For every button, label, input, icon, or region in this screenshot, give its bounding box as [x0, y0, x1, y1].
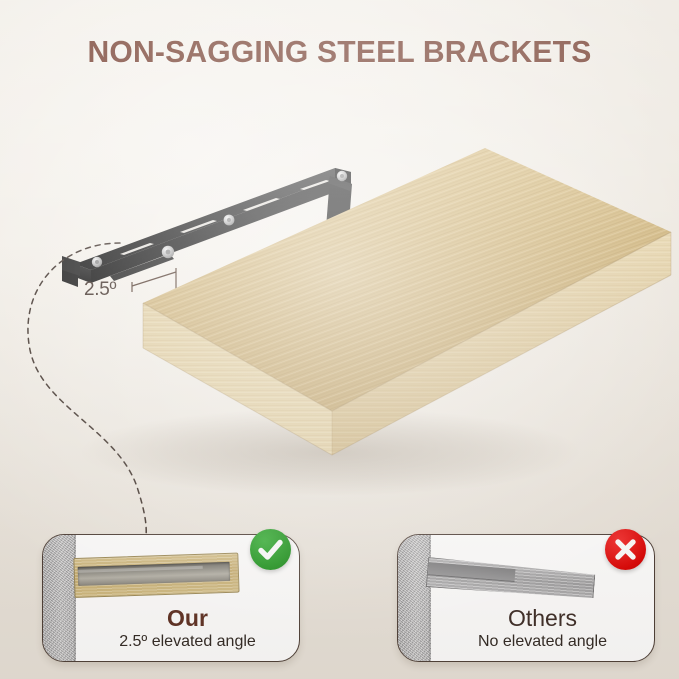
- oak-shelf: [143, 148, 671, 455]
- cross-glyph: [605, 529, 646, 570]
- cross-icon: [605, 529, 646, 570]
- wall-texture-our: [43, 535, 76, 661]
- others-shelf-cross-section: [426, 557, 596, 600]
- angle-callout-label: 2.5º: [84, 279, 116, 301]
- check-glyph: [250, 529, 291, 570]
- wall-texture-others: [398, 535, 431, 661]
- card-others-heading: Others: [431, 605, 654, 632]
- our-shelf-cross-section: [73, 553, 239, 598]
- card-our-heading: Our: [76, 605, 299, 632]
- check-icon: [250, 529, 291, 570]
- product-marketing-image: NON-SAGGING STEEL BRACKETS: [0, 0, 679, 679]
- card-our-subtext: 2.5º elevated angle: [76, 633, 299, 651]
- card-others-subtext: No elevated angle: [431, 633, 654, 651]
